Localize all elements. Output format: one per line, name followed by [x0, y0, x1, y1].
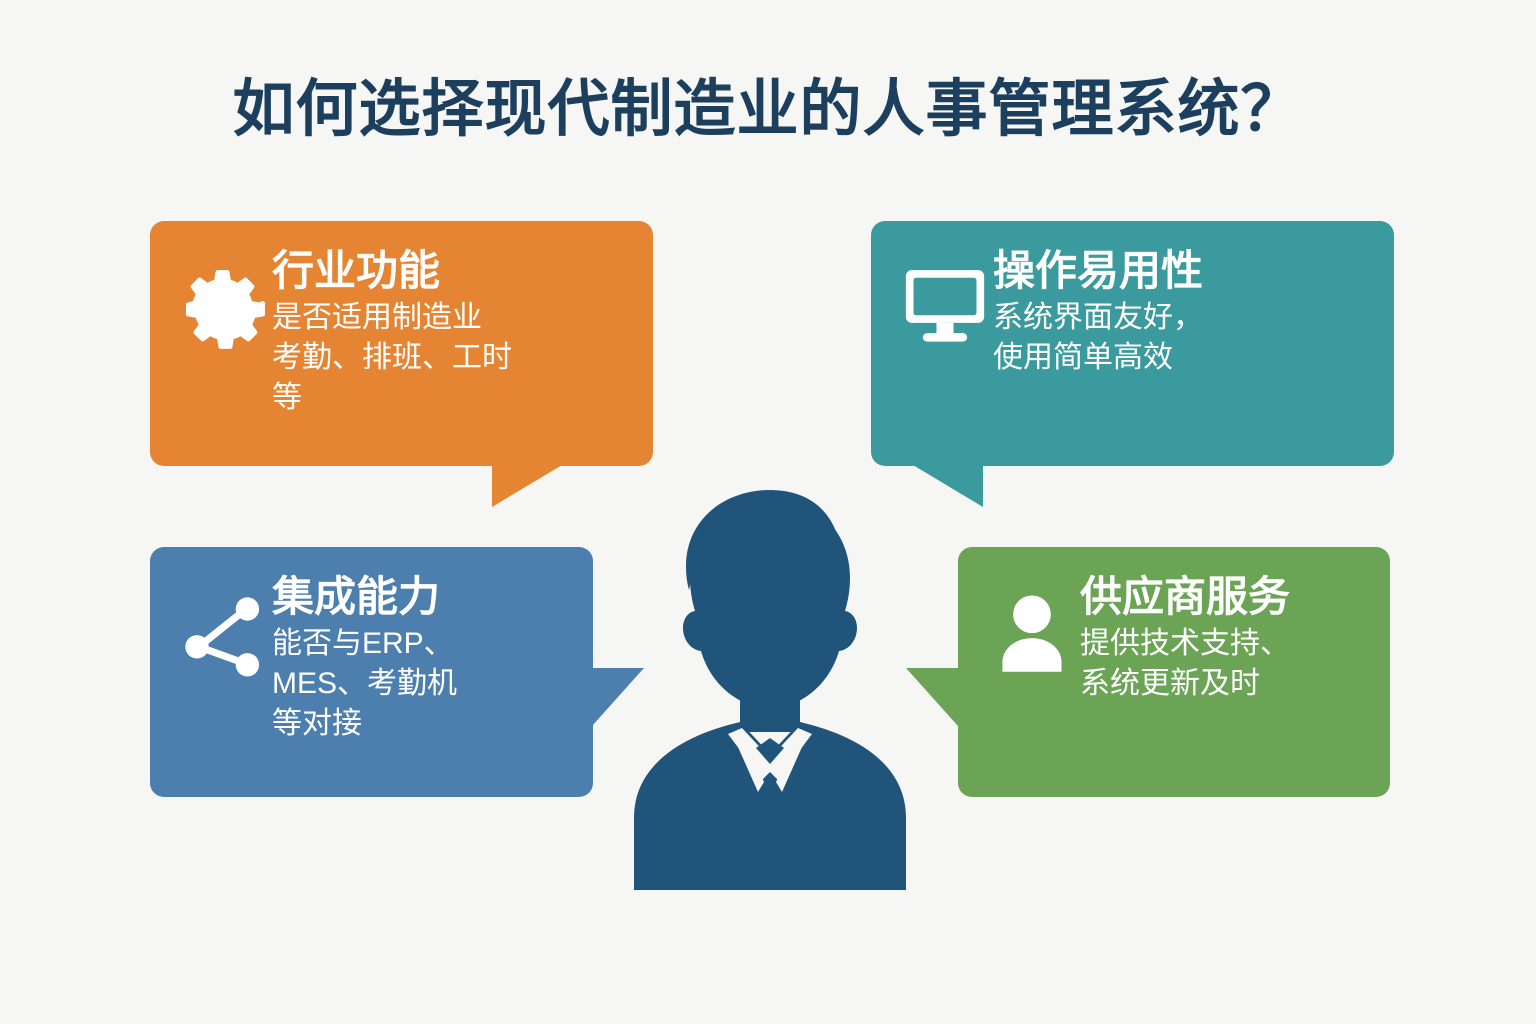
- businessman-silhouette: [590, 490, 950, 890]
- bubble-integration-heading: 集成能力: [272, 573, 569, 620]
- bubble-industry-heading: 行业功能: [272, 247, 629, 294]
- bubble-integration[interactable]: 集成能力 能否与ERP、 MES、考勤机 等对接: [150, 547, 593, 797]
- bubble-industry-features[interactable]: 行业功能 是否适用制造业 考勤、排班、工时 等: [150, 221, 653, 466]
- infographic-canvas: 如何选择现代制造业的人事管理系统？ 行业功能 是否适用制造业 考勤、排班、工时 …: [0, 0, 1536, 1024]
- page-title: 如何选择现代制造业的人事管理系统？: [0, 58, 1536, 148]
- bubble-usability-text: 操作易用性 系统界面友好， 使用简单高效: [993, 247, 1370, 378]
- bubble-industry-text: 行业功能 是否适用制造业 考勤、排班、工时 等: [272, 247, 629, 419]
- user-icon: [984, 573, 1080, 677]
- bottom-margin: [0, 914, 1536, 1024]
- bubble-industry-body: 是否适用制造业 考勤、排班、工时 等: [272, 298, 629, 419]
- network-nodes-icon: [176, 573, 272, 681]
- bubble-vendor-heading: 供应商服务: [1080, 573, 1366, 620]
- bubble-vendor-body: 提供技术支持、 系统更新及时: [1080, 624, 1366, 704]
- bubble-vendor-service[interactable]: 供应商服务 提供技术支持、 系统更新及时: [958, 547, 1390, 797]
- gear-icon: [176, 247, 272, 351]
- bubble-integration-text: 集成能力 能否与ERP、 MES、考勤机 等对接: [272, 573, 569, 745]
- bubble-vendor-text: 供应商服务 提供技术支持、 系统更新及时: [1080, 573, 1366, 704]
- bubble-usability-body: 系统界面友好， 使用简单高效: [993, 298, 1370, 378]
- monitor-icon: [897, 247, 993, 345]
- bubble-integration-body: 能否与ERP、 MES、考勤机 等对接: [272, 624, 569, 745]
- bubble-usability[interactable]: 操作易用性 系统界面友好， 使用简单高效: [871, 221, 1394, 466]
- bubble-usability-heading: 操作易用性: [993, 247, 1370, 294]
- bubble-industry-tail: [492, 465, 562, 507]
